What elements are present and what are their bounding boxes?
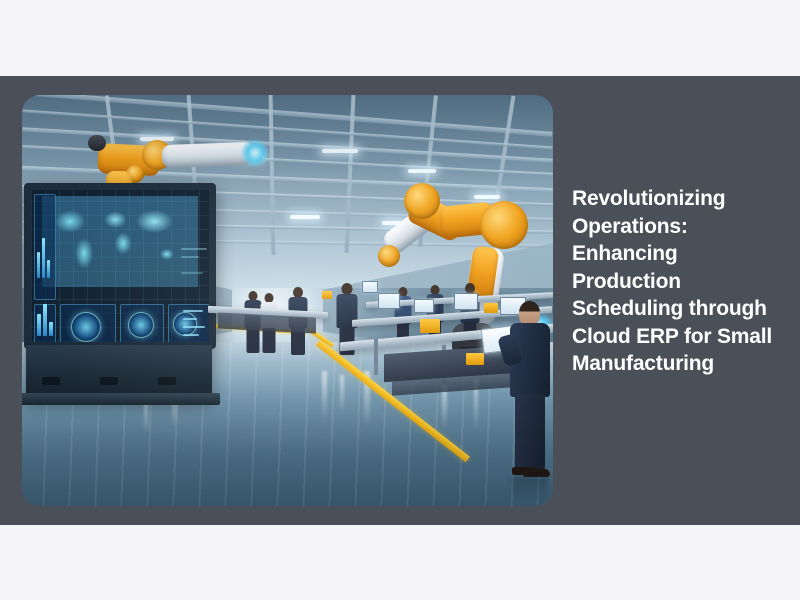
- workstation-screen: [414, 299, 434, 313]
- equipment-box: [322, 291, 332, 299]
- workstation-screen: [378, 293, 400, 309]
- page-root: Revolutionizing Operations: Enhancing Pr…: [0, 0, 800, 600]
- dashboard-monitor: [24, 183, 216, 349]
- foreground-person-with-tablet: [508, 301, 552, 479]
- workstation-screen: [454, 293, 478, 310]
- person-legs: [515, 394, 545, 470]
- hero-headline: Revolutionizing Operations: Enhancing Pr…: [572, 185, 772, 378]
- factory-scene: [22, 95, 553, 506]
- hero-image: [22, 95, 553, 506]
- gauge-widget-2: [128, 312, 154, 338]
- gauge-widget-3: [173, 312, 197, 336]
- monitor-stand: [26, 345, 212, 397]
- equipment-box: [466, 353, 484, 365]
- equipment-box: [420, 319, 440, 333]
- workstation-screen: [362, 281, 378, 293]
- gauge-widget-1: [71, 312, 101, 342]
- equipment-box: [484, 303, 498, 313]
- hero-panel: Revolutionizing Operations: Enhancing Pr…: [0, 76, 800, 525]
